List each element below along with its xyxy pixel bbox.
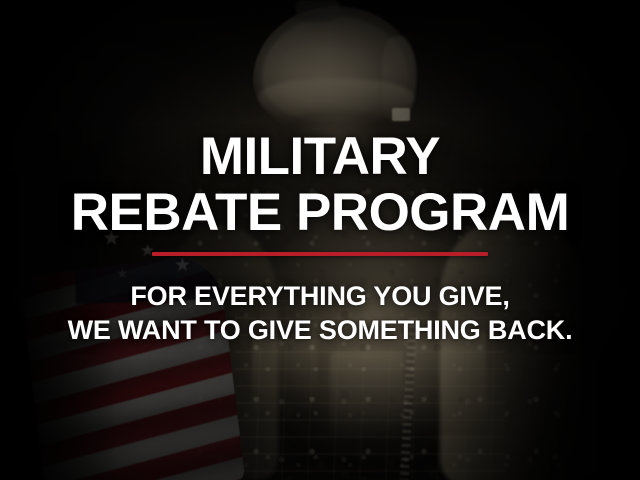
subhead-line-1: FOR EVERYTHING YOU GIVE,: [68, 279, 573, 314]
headline-line-1: MILITARY: [200, 131, 440, 183]
red-divider-rule: [152, 252, 488, 256]
subhead-block: FOR EVERYTHING YOU GIVE, WE WANT TO GIVE…: [68, 279, 573, 348]
text-overlay: MILITARY REBATE PROGRAM FOR EVERYTHING Y…: [0, 0, 640, 480]
military-rebate-program-banner: MILITARY REBATE PROGRAM FOR EVERYTHING Y…: [0, 0, 640, 480]
subhead-line-2: WE WANT TO GIVE SOMETHING BACK.: [68, 313, 573, 348]
headline-line-2: REBATE PROGRAM: [71, 187, 569, 239]
